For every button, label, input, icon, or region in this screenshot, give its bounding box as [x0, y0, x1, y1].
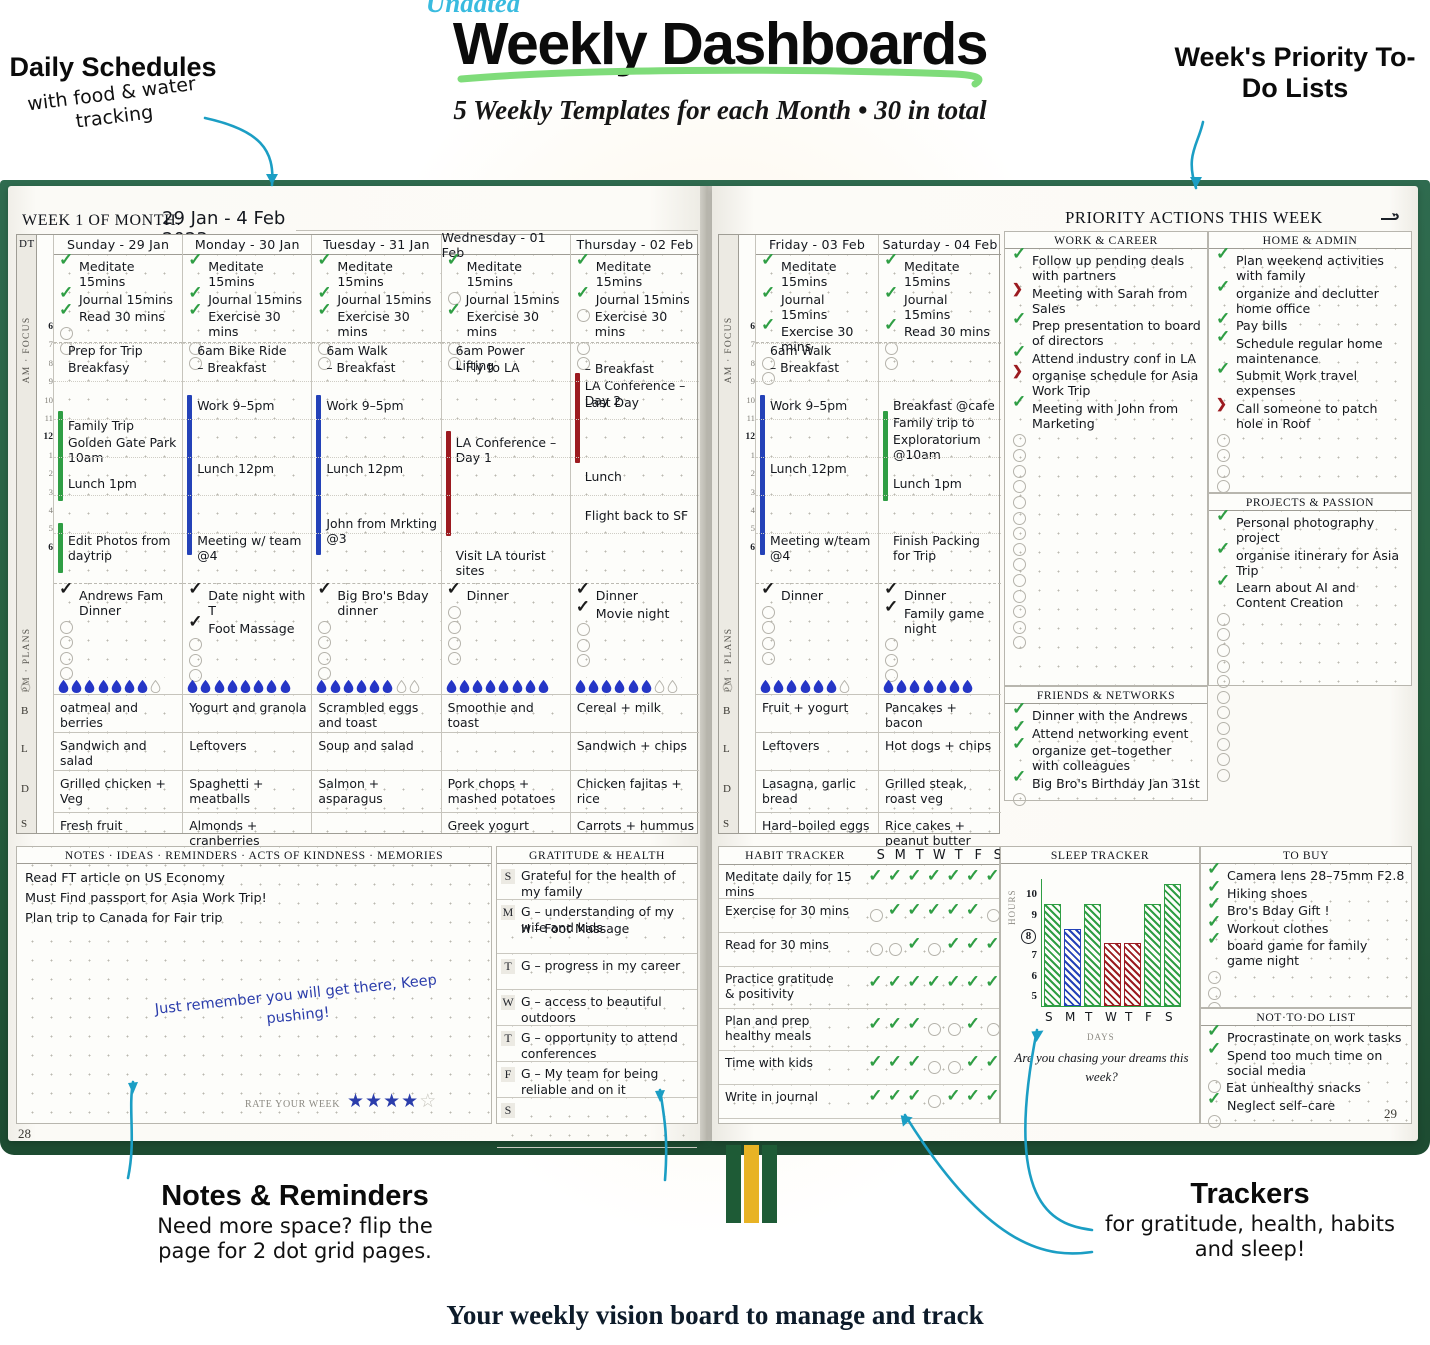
- water-drop-filled-icon[interactable]: [84, 680, 95, 693]
- list-item[interactable]: Personal photography project: [1217, 515, 1405, 545]
- check-icon[interactable]: [318, 309, 332, 322]
- list-item[interactable]: Journal 15mins: [577, 292, 694, 307]
- list-item[interactable]: [189, 654, 306, 667]
- list-item[interactable]: Meditate 15mins: [577, 259, 694, 289]
- water-drop-filled-icon[interactable]: [343, 680, 354, 693]
- star-rating[interactable]: ★★★★☆: [347, 1090, 436, 1113]
- check-icon[interactable]: [986, 1059, 1000, 1072]
- list-item[interactable]: [318, 636, 435, 649]
- checkbox-icon[interactable]: [1217, 691, 1230, 704]
- list-item[interactable]: [1217, 691, 1405, 704]
- list-item[interactable]: [1013, 543, 1201, 556]
- list-item[interactable]: Meditate 15mins: [448, 259, 565, 289]
- list-item[interactable]: organize get–together with colleagues: [1013, 743, 1201, 773]
- check-icon[interactable]: [885, 324, 899, 337]
- habit-mark-cell[interactable]: [967, 907, 987, 925]
- checkbox-icon[interactable]: [577, 654, 590, 667]
- checkbox-icon[interactable]: [189, 654, 202, 667]
- checkbox-icon[interactable]: [885, 654, 898, 667]
- check-icon[interactable]: [947, 941, 961, 954]
- water-drop-filled-icon[interactable]: [446, 680, 457, 693]
- water-drop-filled-icon[interactable]: [813, 680, 824, 693]
- list-item[interactable]: Meditate 15mins: [885, 259, 996, 289]
- habit-mark-cell[interactable]: [947, 1093, 967, 1111]
- check-icon[interactable]: [1217, 336, 1231, 349]
- check-icon[interactable]: [947, 873, 961, 886]
- checkbox-icon[interactable]: [762, 652, 775, 665]
- water-drop-empty-icon[interactable]: [667, 680, 678, 693]
- water-drop-filled-icon[interactable]: [330, 680, 341, 693]
- habit-mark-cell[interactable]: [908, 941, 928, 959]
- sleep-bar[interactable]: [1064, 929, 1081, 1006]
- list-item[interactable]: [1217, 722, 1405, 735]
- checkbox-icon[interactable]: [448, 652, 461, 665]
- list-item[interactable]: Submit Work travel expenses: [1217, 368, 1405, 398]
- checkbox-icon[interactable]: [577, 623, 590, 636]
- habit-mark-cell[interactable]: [967, 1093, 987, 1111]
- check-icon[interactable]: [908, 1059, 922, 1072]
- water-drop-empty-icon[interactable]: [654, 680, 665, 693]
- water-drop-filled-icon[interactable]: [240, 680, 251, 693]
- list-item[interactable]: Spend too much time on social media: [1208, 1048, 1405, 1078]
- checkbox-icon[interactable]: [1013, 590, 1026, 603]
- check-icon[interactable]: [1013, 253, 1027, 266]
- checkbox-icon[interactable]: [1013, 621, 1026, 634]
- list-item[interactable]: Follow up pending deals with partners: [1013, 253, 1201, 283]
- list-item[interactable]: [1217, 449, 1405, 462]
- water-drop-empty-icon[interactable]: [839, 680, 850, 693]
- list-item[interactable]: organize and declutter home office: [1217, 286, 1405, 316]
- habit-mark-cell[interactable]: [908, 873, 928, 891]
- list-item[interactable]: Meeting with Sarah from Sales: [1013, 286, 1201, 316]
- list-item[interactable]: Workout clothes: [1208, 921, 1405, 936]
- check-icon[interactable]: [577, 259, 591, 272]
- checkbox-icon[interactable]: [448, 637, 461, 650]
- habit-mark-cell[interactable]: [928, 1021, 948, 1039]
- check-icon[interactable]: [908, 1093, 922, 1106]
- check-icon[interactable]: [947, 1093, 961, 1106]
- habit-mark-cell[interactable]: [967, 941, 987, 959]
- water-drop-filled-icon[interactable]: [628, 680, 639, 693]
- checkbox-icon[interactable]: [928, 1023, 941, 1036]
- check-icon[interactable]: [889, 1021, 903, 1034]
- list-item[interactable]: [318, 652, 435, 665]
- list-item[interactable]: Attend industry conf in LA: [1013, 351, 1201, 366]
- arrow-icon[interactable]: [1217, 401, 1231, 414]
- check-icon[interactable]: [1208, 1098, 1222, 1111]
- list-item[interactable]: Dinner: [448, 588, 565, 603]
- checkbox-icon[interactable]: [1013, 527, 1026, 540]
- list-item[interactable]: [1217, 660, 1405, 673]
- checkbox-icon[interactable]: [1217, 706, 1230, 719]
- checkbox-icon[interactable]: [1013, 480, 1026, 493]
- check-icon[interactable]: [1208, 1048, 1222, 1061]
- list-item[interactable]: [577, 639, 694, 652]
- list-item[interactable]: Hiking shoes: [1208, 886, 1405, 901]
- habit-mark-cell[interactable]: [928, 979, 948, 997]
- water-drop-filled-icon[interactable]: [800, 680, 811, 693]
- check-icon[interactable]: [448, 588, 462, 601]
- habit-mark-cell[interactable]: [928, 941, 948, 959]
- water-drop-filled-icon[interactable]: [200, 680, 211, 693]
- list-item[interactable]: Dinner: [885, 588, 996, 603]
- water-drop-filled-icon[interactable]: [883, 680, 894, 693]
- list-item[interactable]: Meditate 15mins: [318, 259, 435, 289]
- water-drop-filled-icon[interactable]: [472, 680, 483, 693]
- list-item[interactable]: Exercise 30 mins: [189, 309, 306, 339]
- list-item[interactable]: [1217, 480, 1405, 493]
- list-item[interactable]: Eat unhealthy snacks: [1208, 1080, 1405, 1095]
- list-item[interactable]: Journal 15mins: [762, 292, 873, 322]
- habit-mark-cell[interactable]: [889, 873, 909, 891]
- list-item[interactable]: Schedule regular home maintenance: [1217, 336, 1405, 366]
- check-icon[interactable]: [908, 907, 922, 920]
- check-icon[interactable]: [1208, 938, 1222, 951]
- water-drop-filled-icon[interactable]: [962, 680, 973, 693]
- check-icon[interactable]: [869, 873, 883, 886]
- habit-mark-cell[interactable]: [869, 1059, 889, 1077]
- checkbox-icon[interactable]: [928, 943, 941, 956]
- check-icon[interactable]: [967, 1059, 981, 1072]
- checkbox-icon[interactable]: [1208, 987, 1221, 1000]
- check-icon[interactable]: [889, 1059, 903, 1072]
- water-drop-filled-icon[interactable]: [98, 680, 109, 693]
- checkbox-icon[interactable]: [1013, 543, 1026, 556]
- checkbox-icon[interactable]: [1217, 644, 1230, 657]
- water-drop-empty-icon[interactable]: [722, 679, 733, 692]
- check-icon[interactable]: [189, 621, 203, 634]
- list-item[interactable]: [762, 652, 873, 665]
- list-item[interactable]: Learn about AI and Content Creation: [1217, 580, 1405, 610]
- sleep-bar[interactable]: [1144, 904, 1161, 1006]
- check-icon[interactable]: [967, 1021, 981, 1034]
- water-drop-filled-icon[interactable]: [826, 680, 837, 693]
- water-drop-filled-icon[interactable]: [641, 680, 652, 693]
- checkbox-icon[interactable]: [60, 327, 73, 340]
- checkbox-icon[interactable]: [1217, 449, 1230, 462]
- check-icon[interactable]: [318, 588, 332, 601]
- habit-mark-cell[interactable]: [947, 1059, 967, 1077]
- water-drop-filled-icon[interactable]: [909, 680, 920, 693]
- checkbox-icon[interactable]: [889, 943, 902, 956]
- list-item[interactable]: [577, 623, 694, 636]
- checkbox-icon[interactable]: [60, 621, 73, 634]
- list-item[interactable]: [1217, 644, 1405, 657]
- check-icon[interactable]: [1217, 253, 1231, 266]
- list-item[interactable]: [885, 654, 996, 667]
- checkbox-icon[interactable]: [1013, 574, 1026, 587]
- list-item[interactable]: Journal 15mins: [318, 292, 435, 307]
- list-item[interactable]: [60, 621, 177, 634]
- water-drop-empty-icon[interactable]: [409, 680, 420, 693]
- water-drop-empty-icon[interactable]: [150, 680, 161, 693]
- checkbox-icon[interactable]: [60, 652, 73, 665]
- list-item[interactable]: Camera lens 28–75mm F2.8: [1208, 868, 1405, 883]
- list-item[interactable]: Meeting with John from Marketing: [1013, 401, 1201, 431]
- habit-mark-cell[interactable]: [947, 873, 967, 891]
- check-icon[interactable]: [908, 873, 922, 886]
- list-item[interactable]: [1013, 480, 1201, 493]
- check-icon[interactable]: [448, 259, 462, 272]
- habit-mark-cell[interactable]: [928, 873, 948, 891]
- list-item[interactable]: [1217, 434, 1405, 447]
- habit-mark-cell[interactable]: [947, 907, 967, 925]
- habit-mark-cell[interactable]: [889, 907, 909, 925]
- list-item[interactable]: [885, 638, 996, 651]
- list-item[interactable]: [1013, 590, 1201, 603]
- list-item[interactable]: [1208, 987, 1405, 1000]
- list-item[interactable]: [189, 638, 306, 651]
- check-icon[interactable]: [889, 907, 903, 920]
- check-icon[interactable]: [762, 588, 776, 601]
- checkbox-icon[interactable]: [1217, 613, 1230, 626]
- check-icon[interactable]: [1217, 368, 1231, 381]
- sleep-bar[interactable]: [1104, 943, 1121, 1006]
- water-drop-filled-icon[interactable]: [214, 680, 225, 693]
- checkbox-icon[interactable]: [1217, 465, 1230, 478]
- habit-mark-cell[interactable]: [869, 941, 889, 959]
- water-drop-filled-icon[interactable]: [253, 680, 264, 693]
- list-item[interactable]: Andrews Fam Dinner: [60, 588, 177, 618]
- water-drop-filled-icon[interactable]: [137, 680, 148, 693]
- check-icon[interactable]: [189, 588, 203, 601]
- checkbox-icon[interactable]: [948, 1061, 961, 1074]
- list-item[interactable]: [1217, 628, 1405, 641]
- check-icon[interactable]: [189, 259, 203, 272]
- check-icon[interactable]: [1217, 580, 1231, 593]
- list-item[interactable]: [1208, 971, 1405, 984]
- habit-mark-cell[interactable]: [928, 907, 948, 925]
- check-icon[interactable]: [60, 588, 74, 601]
- list-item[interactable]: Procrastinate on work tasks: [1208, 1030, 1405, 1045]
- checkbox-icon[interactable]: [1217, 628, 1230, 641]
- star-icon[interactable]: ★: [401, 1091, 419, 1112]
- list-item[interactable]: [762, 637, 873, 650]
- water-drop-filled-icon[interactable]: [382, 680, 393, 693]
- list-item[interactable]: Exercise 30 mins: [577, 309, 694, 339]
- habit-mark-cell[interactable]: [869, 979, 889, 997]
- list-item[interactable]: [318, 621, 435, 634]
- list-item[interactable]: [60, 636, 177, 649]
- list-item[interactable]: Prep presentation to board of directors: [1013, 318, 1201, 348]
- check-icon[interactable]: [1013, 318, 1027, 331]
- check-icon[interactable]: [908, 941, 922, 954]
- list-item[interactable]: [448, 652, 565, 665]
- list-item[interactable]: [1217, 465, 1405, 478]
- habit-mark-cell[interactable]: [908, 1093, 928, 1111]
- checkbox-icon[interactable]: [1013, 558, 1026, 571]
- habit-mark-cell[interactable]: [889, 1059, 909, 1077]
- checkbox-icon[interactable]: [1217, 769, 1230, 782]
- check-icon[interactable]: [947, 979, 961, 992]
- water-drop-filled-icon[interactable]: [71, 680, 82, 693]
- list-item[interactable]: [1013, 449, 1201, 462]
- checkbox-icon[interactable]: [577, 309, 590, 322]
- check-icon[interactable]: [885, 259, 899, 272]
- check-icon[interactable]: [762, 292, 776, 305]
- checkbox-icon[interactable]: [1013, 449, 1026, 462]
- list-item[interactable]: [1217, 769, 1405, 782]
- checkbox-icon[interactable]: [762, 606, 775, 619]
- checkbox-icon[interactable]: [1217, 434, 1230, 447]
- water-drop-filled-icon[interactable]: [760, 680, 771, 693]
- check-icon[interactable]: [762, 259, 776, 272]
- habit-mark-cell[interactable]: [869, 1021, 889, 1039]
- list-item[interactable]: [448, 637, 565, 650]
- check-icon[interactable]: [928, 873, 942, 886]
- water-drop-filled-icon[interactable]: [588, 680, 599, 693]
- list-item[interactable]: Meditate 15mins: [189, 259, 306, 289]
- habit-mark-cell[interactable]: [889, 979, 909, 997]
- list-item[interactable]: Exercise 30 mins: [318, 309, 435, 339]
- list-item[interactable]: [1217, 738, 1405, 751]
- checkbox-icon[interactable]: [928, 1061, 941, 1074]
- checkbox-icon[interactable]: [60, 636, 73, 649]
- list-item[interactable]: Journal 15mins: [189, 292, 306, 307]
- star-icon[interactable]: ★: [383, 1091, 401, 1112]
- checkbox-icon[interactable]: [1208, 971, 1221, 984]
- water-drop-filled-icon[interactable]: [280, 680, 291, 693]
- water-drop-filled-icon[interactable]: [187, 680, 198, 693]
- checkbox-icon[interactable]: [448, 606, 461, 619]
- check-icon[interactable]: [869, 979, 883, 992]
- check-icon[interactable]: [60, 259, 74, 272]
- check-icon[interactable]: [889, 979, 903, 992]
- water-drop-filled-icon[interactable]: [923, 680, 934, 693]
- check-icon[interactable]: [60, 309, 74, 322]
- habit-mark-cell[interactable]: [967, 1021, 987, 1039]
- checkbox-icon[interactable]: [885, 638, 898, 651]
- check-icon[interactable]: [1217, 515, 1231, 528]
- check-icon[interactable]: [986, 979, 1000, 992]
- checkbox-icon[interactable]: [762, 621, 775, 634]
- checkbox-icon[interactable]: [1217, 753, 1230, 766]
- checkbox-icon[interactable]: [1013, 793, 1026, 806]
- habit-mark-cell[interactable]: [908, 979, 928, 997]
- arrow-icon[interactable]: [1013, 368, 1027, 381]
- check-icon[interactable]: [967, 979, 981, 992]
- water-drop-filled-icon[interactable]: [124, 680, 135, 693]
- list-item[interactable]: [1013, 558, 1201, 571]
- list-item[interactable]: organise schedule for Asia Work Trip: [1013, 368, 1201, 398]
- list-item[interactable]: Meditate 15mins: [60, 259, 177, 289]
- water-drop-filled-icon[interactable]: [773, 680, 784, 693]
- habit-mark-cell[interactable]: [947, 1021, 967, 1039]
- check-icon[interactable]: [318, 259, 332, 272]
- check-icon[interactable]: [967, 941, 981, 954]
- list-item[interactable]: Meditate 15mins: [762, 259, 873, 289]
- checkbox-icon[interactable]: [1208, 1115, 1221, 1128]
- checkbox-icon[interactable]: [948, 1023, 961, 1036]
- habit-mark-cell[interactable]: [967, 979, 987, 997]
- checkbox-icon[interactable]: [448, 621, 461, 634]
- check-icon[interactable]: [889, 1093, 903, 1106]
- water-drop-filled-icon[interactable]: [266, 680, 277, 693]
- list-item[interactable]: [762, 621, 873, 634]
- list-item[interactable]: [448, 621, 565, 634]
- habit-mark-cell[interactable]: [967, 1059, 987, 1077]
- list-item[interactable]: [1013, 793, 1201, 806]
- habit-mark-cell[interactable]: [928, 1093, 948, 1111]
- checkbox-icon[interactable]: [1013, 512, 1026, 525]
- checkbox-icon[interactable]: [577, 639, 590, 652]
- checkbox-icon[interactable]: [928, 1095, 941, 1108]
- list-item[interactable]: [1208, 1115, 1405, 1128]
- checkbox-icon[interactable]: [318, 652, 331, 665]
- water-drop-filled-icon[interactable]: [896, 680, 907, 693]
- list-item[interactable]: Dinner with the Andrews: [1013, 708, 1201, 723]
- list-item[interactable]: board game for family game night: [1208, 938, 1405, 968]
- habit-mark-cell[interactable]: [869, 907, 889, 925]
- check-icon[interactable]: [889, 873, 903, 886]
- checkbox-icon[interactable]: [1013, 636, 1026, 649]
- checkbox-icon[interactable]: [1013, 465, 1026, 478]
- check-icon[interactable]: [908, 1021, 922, 1034]
- water-drop-filled-icon[interactable]: [512, 680, 523, 693]
- check-icon[interactable]: [928, 907, 942, 920]
- check-icon[interactable]: [577, 606, 591, 619]
- list-item[interactable]: [1217, 706, 1405, 719]
- checkbox-icon[interactable]: [762, 637, 775, 650]
- list-item[interactable]: [1217, 613, 1405, 626]
- list-item[interactable]: Big Bro's Bday dinner: [318, 588, 435, 618]
- list-item[interactable]: [1013, 465, 1201, 478]
- list-item[interactable]: [1013, 605, 1201, 618]
- habit-mark-cell[interactable]: [928, 1059, 948, 1077]
- list-item[interactable]: [577, 654, 694, 667]
- check-icon[interactable]: [577, 292, 591, 305]
- list-item[interactable]: Date night with T: [189, 588, 306, 618]
- list-item[interactable]: Journal 15mins: [885, 292, 996, 322]
- water-drop-filled-icon[interactable]: [316, 680, 327, 693]
- list-item[interactable]: Read 30 mins: [885, 324, 996, 339]
- list-item[interactable]: Plan weekend activities with family: [1217, 253, 1405, 283]
- list-item[interactable]: Movie night: [577, 606, 694, 621]
- water-drop-filled-icon[interactable]: [575, 680, 586, 693]
- check-icon[interactable]: [762, 324, 776, 337]
- list-item[interactable]: Dinner: [577, 588, 694, 603]
- checkbox-icon[interactable]: [1013, 434, 1026, 447]
- check-icon[interactable]: [885, 292, 899, 305]
- list-item[interactable]: [1217, 675, 1405, 688]
- checkbox-icon[interactable]: [318, 621, 331, 634]
- check-icon[interactable]: [928, 979, 942, 992]
- water-drop-filled-icon[interactable]: [949, 680, 960, 693]
- check-icon[interactable]: [1217, 548, 1231, 561]
- arrow-icon[interactable]: [1013, 286, 1027, 299]
- water-drop-filled-icon[interactable]: [525, 680, 536, 693]
- check-icon[interactable]: [448, 309, 462, 322]
- check-icon[interactable]: [869, 1059, 883, 1072]
- water-drop-filled-icon[interactable]: [369, 680, 380, 693]
- water-drop-filled-icon[interactable]: [227, 680, 238, 693]
- list-item[interactable]: Family game night: [885, 606, 996, 636]
- check-icon[interactable]: [1013, 776, 1027, 789]
- check-icon[interactable]: [885, 606, 899, 619]
- water-drop-empty-icon[interactable]: [396, 680, 407, 693]
- list-item[interactable]: [1013, 496, 1201, 509]
- list-item[interactable]: [1013, 434, 1201, 447]
- checkbox-icon[interactable]: [1217, 675, 1230, 688]
- star-icon[interactable]: ☆: [419, 1091, 436, 1112]
- check-icon[interactable]: [1013, 743, 1027, 756]
- water-drop-filled-icon[interactable]: [111, 680, 122, 693]
- list-item[interactable]: [1013, 636, 1201, 649]
- checkbox-icon[interactable]: [1217, 480, 1230, 493]
- list-item[interactable]: [1013, 512, 1201, 525]
- check-icon[interactable]: [967, 873, 981, 886]
- list-item[interactable]: Attend networking event: [1013, 726, 1201, 741]
